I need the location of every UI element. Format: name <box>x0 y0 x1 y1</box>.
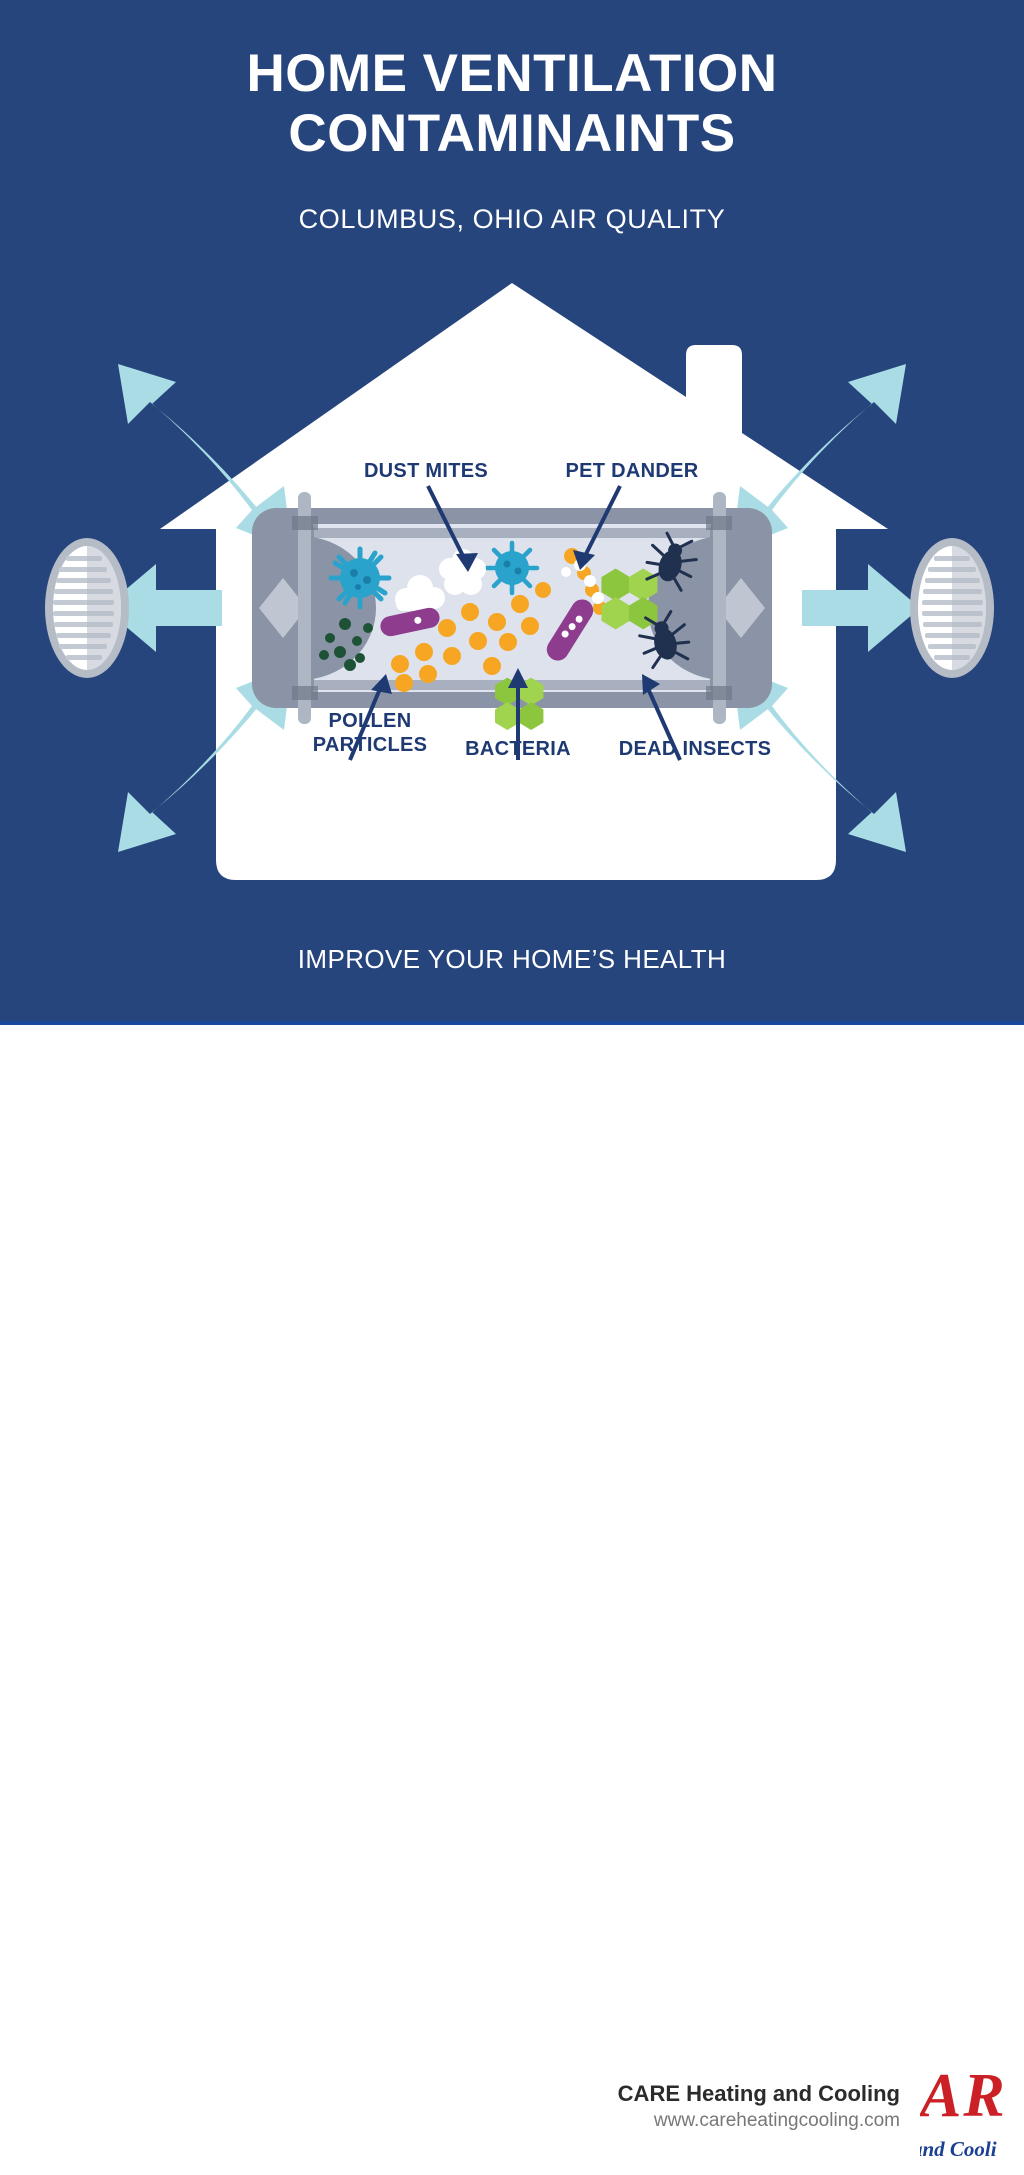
contaminant-labels: DUST MITES PET DANDER POLLEN PARTICLES B… <box>0 260 1024 960</box>
title-line-1: HOME VENTILATION <box>0 44 1024 104</box>
logo-mark-text: AR <box>920 2065 1007 2127</box>
brand-block: CARE Heating and Cooling www.careheating… <box>618 2081 900 2132</box>
poster-panel: HOME VENTILATION CONTAMINAINTS COLUMBUS,… <box>0 0 1024 1023</box>
page-subtitle: COLUMBUS, OHIO AIR QUALITY <box>0 204 1024 235</box>
label-pet-dander: PET DANDER <box>492 460 772 484</box>
infographic-page: HOME VENTILATION CONTAMINAINTS COLUMBUS,… <box>0 0 1024 1154</box>
logo-subtitle-text: and Cooli <box>920 2137 997 2162</box>
company-website[interactable]: www.careheatingcooling.com <box>618 2110 900 2132</box>
label-dead-insects: DEAD INSECTS <box>575 738 815 762</box>
footer: CARE Heating and Cooling www.careheating… <box>0 1025 1024 1154</box>
title-line-2: CONTAMINAINTS <box>0 104 1024 164</box>
company-name: CARE Heating and Cooling <box>618 2081 900 2107</box>
company-logo: AR and Cooli <box>920 2065 1024 2175</box>
label-pollen-line-1: POLLEN <box>240 710 500 734</box>
tagline: IMPROVE YOUR HOME’S HEALTH <box>0 944 1024 975</box>
page-title: HOME VENTILATION CONTAMINAINTS <box>0 44 1024 164</box>
